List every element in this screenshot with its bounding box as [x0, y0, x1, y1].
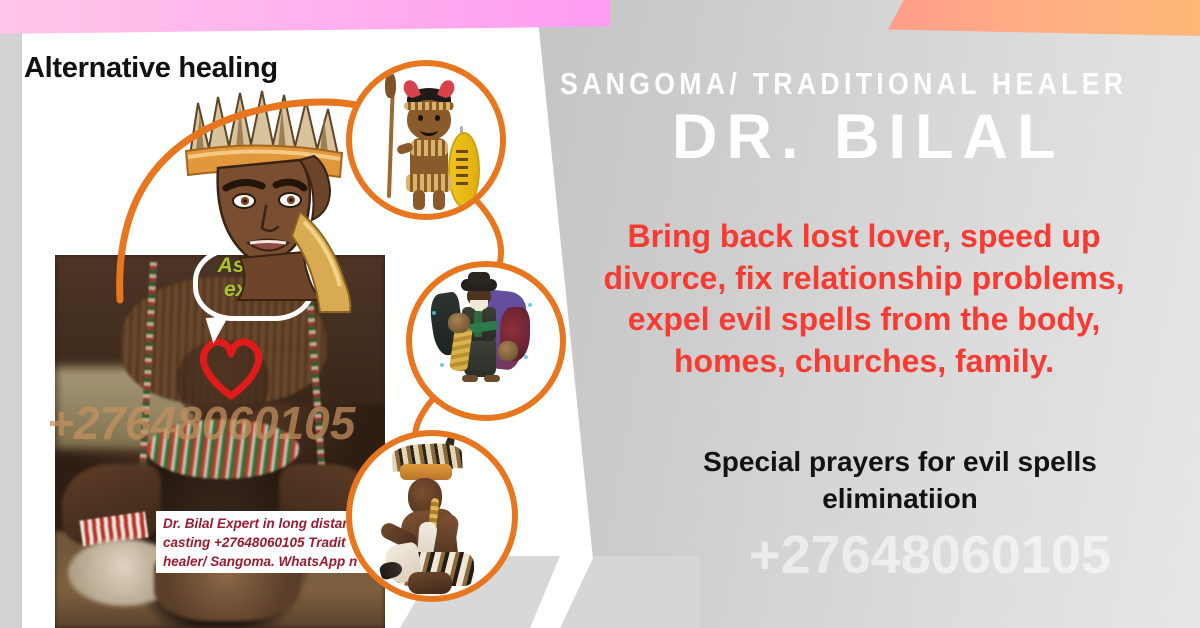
services-line-4: homes, churches, family. — [548, 341, 1180, 383]
pink-accent-bar — [0, 0, 610, 34]
sparkle-icon — [440, 363, 444, 367]
sparkle-icon — [432, 311, 436, 315]
warrior-eye-right — [435, 115, 440, 121]
special-line-1: Special prayers for evil spells — [620, 444, 1180, 481]
warrior-skirt — [406, 174, 452, 192]
sparkle-icon — [524, 355, 528, 359]
healer-pouch-right — [498, 341, 518, 361]
heart-icon — [196, 336, 266, 400]
subtitle-kicker: SANGOMA/ TRADITIONAL HEALER — [560, 66, 1093, 102]
healer-foot-right — [484, 375, 500, 382]
services-line-1: Bring back lost lover, speed up — [548, 216, 1180, 258]
services-line-2: divorce, fix relationship problems, — [548, 258, 1180, 300]
circle-warrior — [346, 60, 506, 220]
sparkle-icon — [528, 303, 532, 307]
caption-line-2: casting +27648060105 Tradit — [163, 533, 378, 552]
warrior-smile — [420, 124, 438, 136]
circle-caped-healer — [406, 261, 566, 421]
panel-phone-watermark: +27648060105 — [660, 524, 1200, 586]
warrior-leg-left — [413, 190, 425, 210]
healer-foot-left — [462, 375, 478, 382]
page-title: Alternative healing — [24, 52, 278, 85]
special-line-2: eliminatiion — [620, 481, 1180, 518]
special-prayers-text: Special prayers for evil spells eliminat… — [620, 444, 1180, 518]
spear-head-icon — [385, 72, 396, 98]
speech-bubble-label: Ask the expert — [198, 254, 313, 302]
speech-bubble-tail — [206, 316, 232, 344]
services-line-3: expel evil spells from the body, — [548, 299, 1180, 341]
warrior-eye-left — [418, 115, 423, 121]
caption-line-3: healer/ Sangoma. WhatsApp n — [163, 552, 378, 571]
shield-marking-icon — [456, 150, 468, 188]
healer-beard — [470, 300, 488, 310]
warrior-leg-right — [433, 190, 445, 210]
poster-canvas: Alternative healing +27648060105 Ask the… — [0, 0, 1200, 628]
services-text: Bring back lost lover, speed up divorce,… — [548, 216, 1180, 382]
warrior-sash — [410, 140, 448, 156]
circle-dancer — [346, 430, 518, 602]
warrior-headband — [404, 102, 454, 110]
dancer-leg — [408, 572, 452, 594]
healer-name: DR. BILAL — [672, 106, 1064, 169]
left-edge-strip — [0, 0, 22, 628]
healer-pouch-left — [448, 313, 470, 333]
healer-hat-crown — [468, 272, 490, 284]
